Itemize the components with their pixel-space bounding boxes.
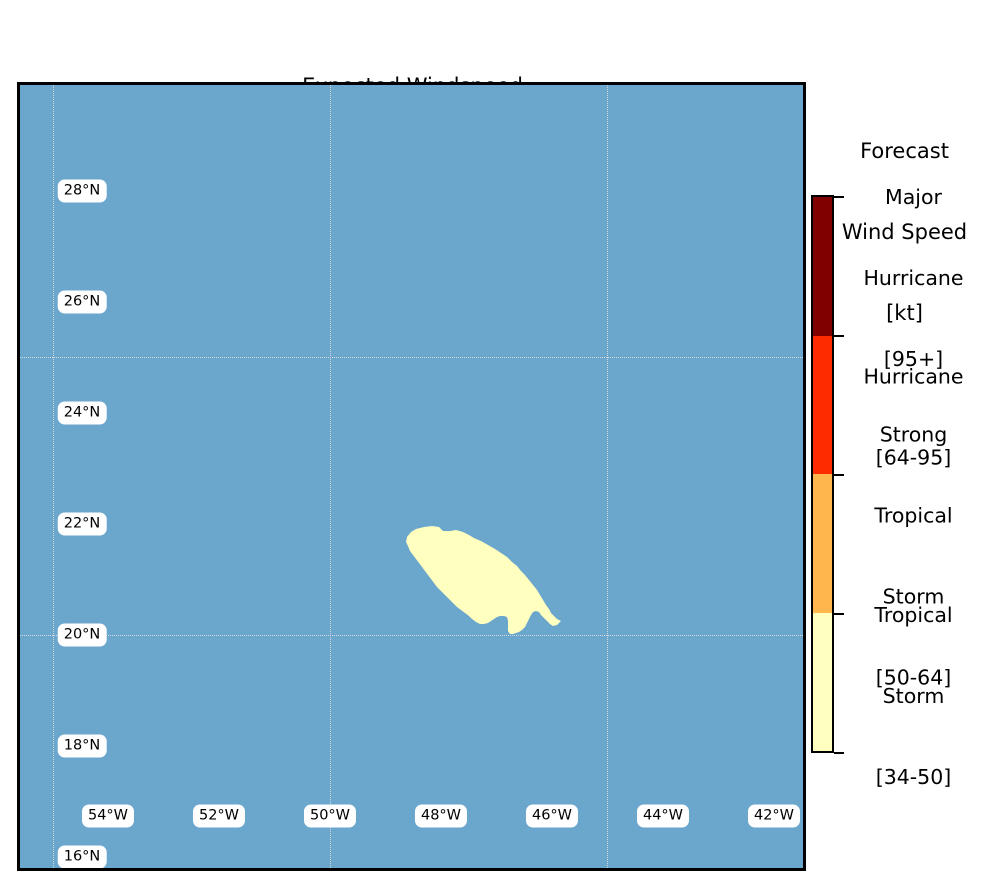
colorbar-segment-major-hurricane[interactable]: [813, 197, 832, 336]
map-panel[interactable]: 28°N 26°N 24°N 22°N 20°N 18°N 16°N 54°W …: [17, 82, 806, 871]
lat-label-22n: 22°N: [58, 513, 107, 536]
lon-label-44w: 44°W: [637, 805, 689, 828]
lon-label-54w: 54°W: [82, 805, 134, 828]
strong-tropical-storm-line-2: Tropical: [838, 503, 989, 530]
lat-label-24n: 24°N: [58, 402, 107, 425]
tropical-storm-polygon: [406, 526, 561, 634]
major-hurricane-line-2: Hurricane: [838, 265, 989, 292]
lon-label-50w: 50°W: [304, 805, 356, 828]
lon-label-52w: 52°W: [193, 805, 245, 828]
lat-label-26n: 26°N: [58, 291, 107, 314]
colorbar[interactable]: [811, 195, 834, 753]
colorbar-label-tropical-storm: Tropical Storm [34-50]: [838, 548, 989, 818]
colorbar-segment-hurricane[interactable]: [813, 336, 832, 475]
map-canvas[interactable]: 28°N 26°N 24°N 22°N 20°N 18°N 16°N 54°W …: [20, 85, 803, 868]
tropical-storm-line-2: Storm: [838, 683, 989, 710]
lat-label-28n: 28°N: [58, 180, 107, 203]
storm-wind-field-overlay: [20, 85, 803, 868]
lon-label-46w: 46°W: [526, 805, 578, 828]
tropical-storm-line-3: [34-50]: [838, 764, 989, 791]
lon-label-48w: 48°W: [415, 805, 467, 828]
lat-label-18n: 18°N: [58, 735, 107, 758]
major-hurricane-line-1: Major: [838, 184, 989, 211]
lat-label-20n: 20°N: [58, 624, 107, 647]
lon-label-42w: 42°W: [748, 805, 800, 828]
strong-tropical-storm-line-1: Strong: [838, 422, 989, 449]
colorbar-segment-strong-tropical-storm[interactable]: [813, 474, 832, 613]
lat-label-16n: 16°N: [58, 846, 107, 869]
tropical-storm-line-1: Tropical: [838, 602, 989, 629]
colorbar-segment-tropical-storm[interactable]: [813, 613, 832, 752]
